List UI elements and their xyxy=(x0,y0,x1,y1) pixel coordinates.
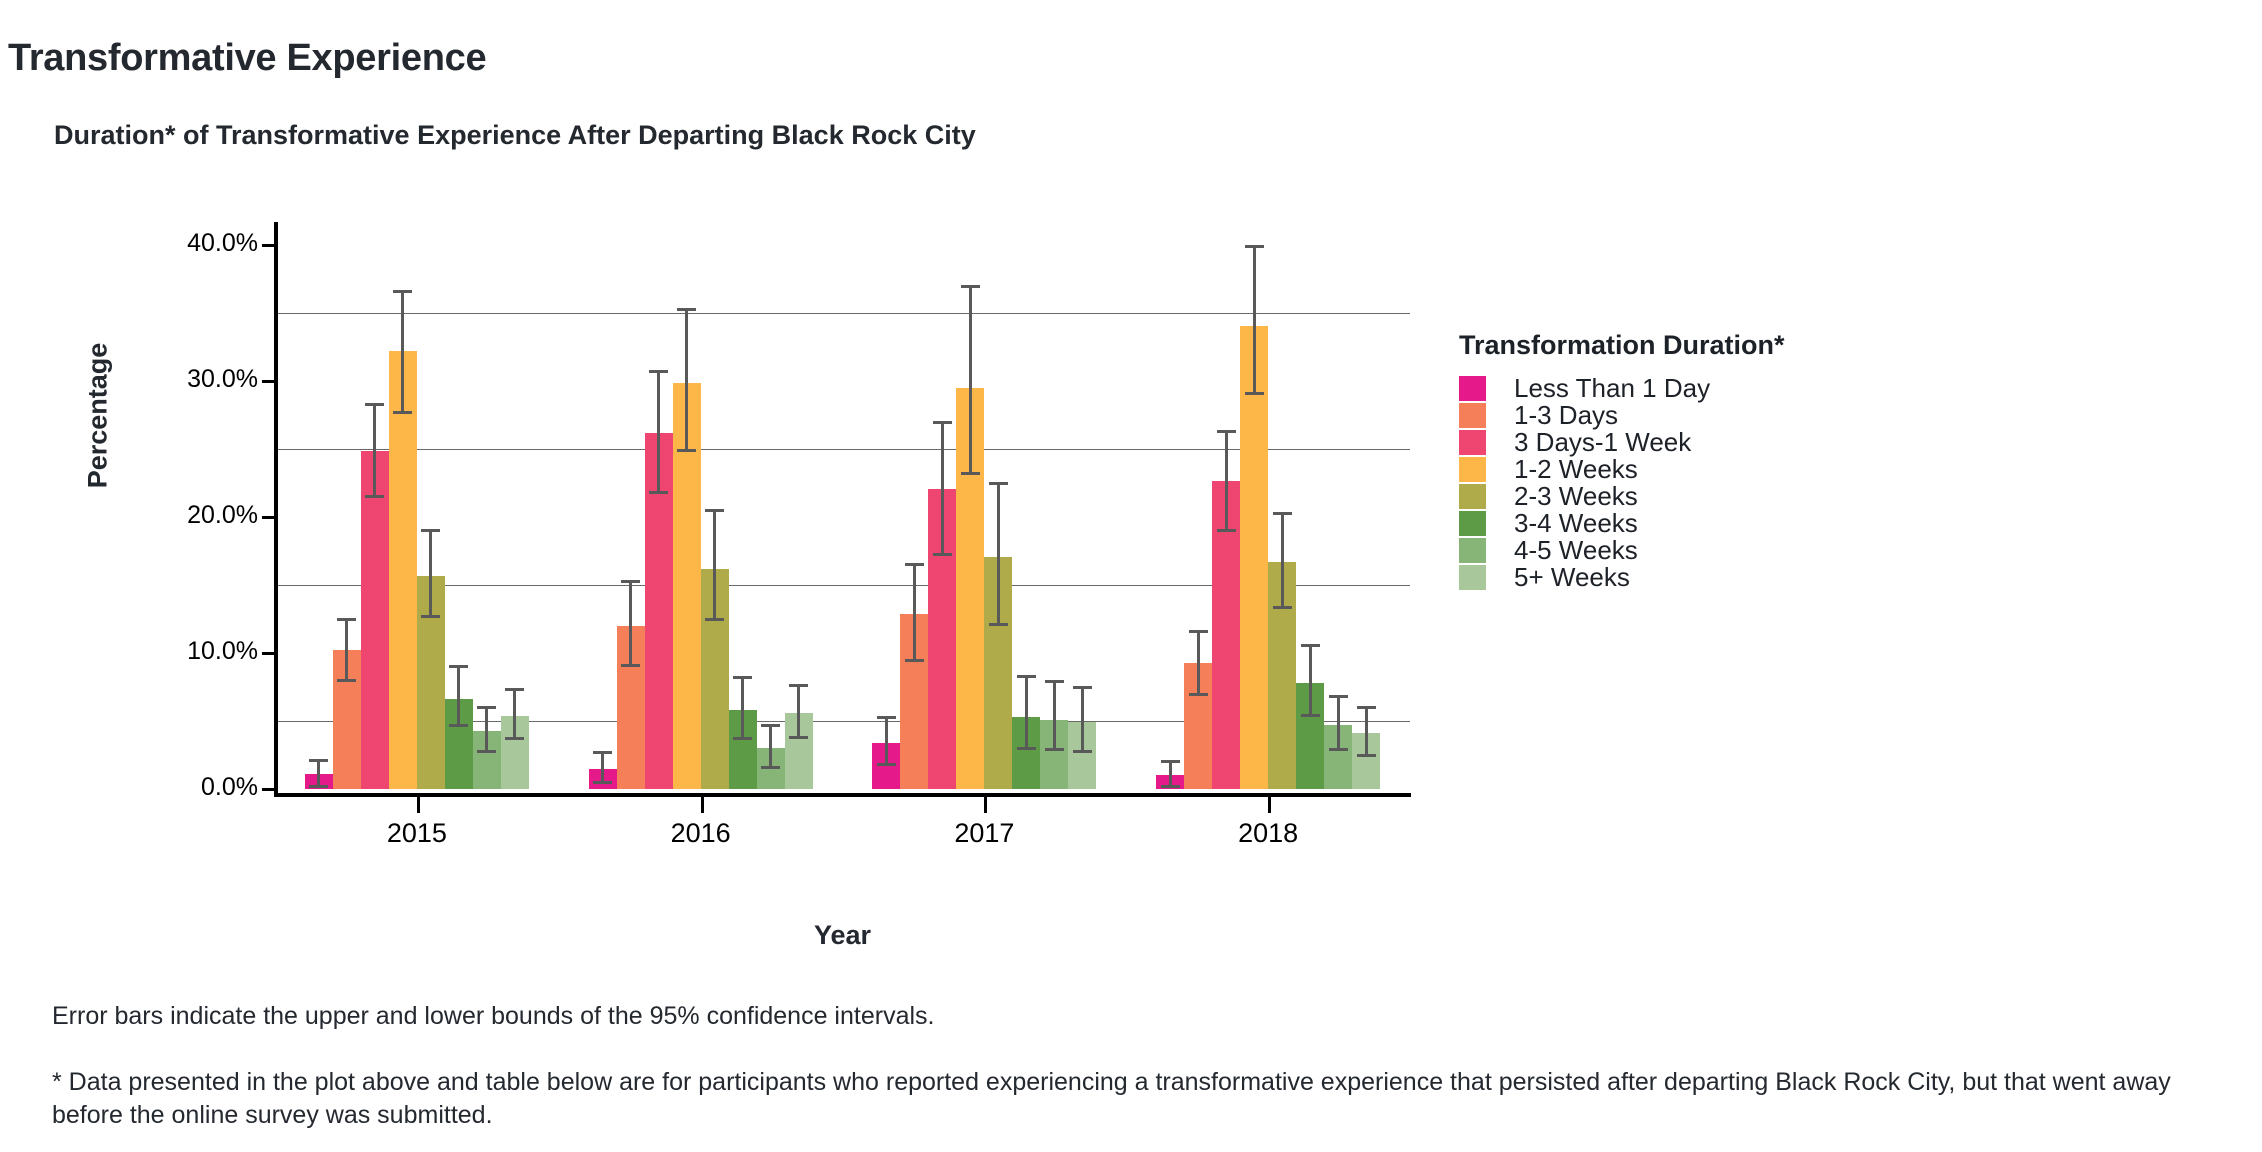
error-bar-cap-lower xyxy=(621,664,640,667)
gridline xyxy=(275,313,1410,314)
error-bar-line xyxy=(769,724,772,766)
legend-items: Less Than 1 Day1-3 Days3 Days-1 Week1-2 … xyxy=(1459,375,2019,591)
legend-swatch-icon xyxy=(1459,484,1486,509)
y-axis-tick-mark xyxy=(262,244,275,247)
legend-swatch-icon xyxy=(1459,403,1486,428)
error-bar-line xyxy=(601,751,604,781)
legend-swatch-icon xyxy=(1459,457,1486,482)
error-bar-line xyxy=(885,716,888,764)
legend-item[interactable]: 2-3 Weeks xyxy=(1459,483,2019,510)
error-bar-cap-upper xyxy=(309,759,328,762)
error-bar-line xyxy=(1169,760,1172,784)
error-bar-cap-lower xyxy=(705,618,724,621)
error-bar-line xyxy=(629,580,632,664)
error-bar-cap-upper xyxy=(337,618,356,621)
bar xyxy=(389,351,417,789)
y-axis-line xyxy=(274,222,278,795)
error-bar-line xyxy=(429,529,432,615)
legend-swatch-icon xyxy=(1459,430,1486,455)
legend-item[interactable]: Less Than 1 Day xyxy=(1459,375,2019,402)
error-bar-cap-upper xyxy=(1189,630,1208,633)
legend-item[interactable]: 5+ Weeks xyxy=(1459,564,2019,591)
y-axis-tick-labels: 0.0%10.0%20.0%30.0%40.0% xyxy=(108,0,258,1152)
legend-item[interactable]: 3-4 Weeks xyxy=(1459,510,2019,537)
y-axis-tick-label: 0.0% xyxy=(118,773,258,802)
y-axis-tick-label: 20.0% xyxy=(118,501,258,530)
bar xyxy=(361,451,389,789)
x-axis-tick-label-2018: 2018 xyxy=(1168,818,1368,849)
legend-label: 5+ Weeks xyxy=(1514,562,1630,593)
error-bar-cap-upper xyxy=(1273,512,1292,515)
error-bar-line xyxy=(685,308,688,449)
legend: Transformation Duration* Less Than 1 Day… xyxy=(1459,330,2019,591)
error-bar-cap-upper xyxy=(761,724,780,727)
x-axis-tick-label-2016: 2016 xyxy=(601,818,801,849)
error-bar-cap-lower xyxy=(905,659,924,662)
error-bar-line xyxy=(1197,630,1200,693)
error-bar-cap-upper xyxy=(1017,675,1036,678)
error-bar-cap-upper xyxy=(621,580,640,583)
error-bar-cap-lower xyxy=(649,491,668,494)
error-bar-cap-upper xyxy=(1357,706,1376,709)
error-bar-line xyxy=(373,403,376,495)
error-bar-cap-upper xyxy=(705,509,724,512)
error-bar-cap-lower xyxy=(1273,606,1292,609)
error-bar-cap-lower xyxy=(989,623,1008,626)
footnotes: Error bars indicate the upper and lower … xyxy=(52,1000,2242,1132)
error-bar-cap-lower xyxy=(789,736,808,739)
error-bar-cap-lower xyxy=(1161,785,1180,788)
error-bar-cap-upper xyxy=(1161,760,1180,763)
error-bar-cap-lower xyxy=(1357,754,1376,757)
error-bar-line xyxy=(345,618,348,679)
error-bar-cap-upper xyxy=(1045,680,1064,683)
error-bar-cap-upper xyxy=(393,290,412,293)
legend-item[interactable]: 1-2 Weeks xyxy=(1459,456,2019,483)
error-bar-line xyxy=(1053,680,1056,748)
error-bar-cap-upper xyxy=(1073,686,1092,689)
chart-figure: Duration* of Transformative Experience A… xyxy=(0,0,2262,1152)
x-axis-title: Year xyxy=(275,920,1410,951)
error-bar-cap-upper xyxy=(1329,695,1348,698)
y-axis-tick-label: 10.0% xyxy=(118,637,258,666)
error-bar-line xyxy=(1365,706,1368,754)
error-bar-line xyxy=(1225,430,1228,529)
error-bar-cap-lower xyxy=(1189,693,1208,696)
error-bar-cap-upper xyxy=(733,676,752,679)
error-bar-cap-lower xyxy=(365,495,384,498)
error-bar-line xyxy=(457,665,460,723)
error-bar-cap-lower xyxy=(933,553,952,556)
error-bar-line xyxy=(797,684,800,736)
error-bar-line xyxy=(713,509,716,618)
y-axis-tick-mark xyxy=(262,516,275,519)
legend-swatch-icon xyxy=(1459,565,1486,590)
error-bar-cap-lower xyxy=(877,763,896,766)
error-bar-cap-upper xyxy=(365,403,384,406)
error-bar-line xyxy=(657,370,660,491)
error-bar-line xyxy=(1309,644,1312,715)
error-bar-line xyxy=(485,706,488,749)
error-bar-cap-upper xyxy=(421,529,440,532)
error-bar-cap-lower xyxy=(449,724,468,727)
error-bar-line xyxy=(1281,512,1284,606)
error-bar-cap-lower xyxy=(309,785,328,788)
error-bar-cap-lower xyxy=(421,615,440,618)
error-bar-cap-lower xyxy=(1245,392,1264,395)
error-bar-cap-lower xyxy=(477,750,496,753)
legend-swatch-icon xyxy=(1459,538,1486,563)
x-axis-line xyxy=(274,793,1411,797)
y-axis-tick-mark xyxy=(262,788,275,791)
footnote-data-definition: * Data presented in the plot above and t… xyxy=(52,1066,2242,1132)
error-bar-line xyxy=(941,421,944,553)
error-bar-cap-lower xyxy=(677,449,696,452)
error-bar-line xyxy=(513,688,516,737)
error-bar-line xyxy=(741,676,744,737)
error-bar-cap-lower xyxy=(337,679,356,682)
error-bar-line xyxy=(913,563,916,658)
error-bar-line xyxy=(997,482,1000,623)
error-bar-cap-lower xyxy=(1329,748,1348,751)
error-bar-cap-upper xyxy=(1245,245,1264,248)
error-bar-cap-lower xyxy=(961,472,980,475)
error-bar-cap-lower xyxy=(505,737,524,740)
error-bar-cap-upper xyxy=(933,421,952,424)
footnote-error-bars: Error bars indicate the upper and lower … xyxy=(52,1000,2242,1033)
error-bar-line xyxy=(401,290,404,411)
legend-swatch-icon xyxy=(1459,511,1486,536)
x-axis-tick-mark xyxy=(417,797,420,813)
legend-swatch-icon xyxy=(1459,376,1486,401)
plot-area xyxy=(275,225,1410,789)
y-axis-tick-label: 30.0% xyxy=(118,365,258,394)
error-bar-cap-lower xyxy=(1045,748,1064,751)
y-axis-tick-mark xyxy=(262,380,275,383)
y-axis-tick-label: 40.0% xyxy=(118,229,258,258)
error-bar-cap-upper xyxy=(449,665,468,668)
error-bar-cap-upper xyxy=(989,482,1008,485)
error-bar-cap-upper xyxy=(677,308,696,311)
error-bar-cap-upper xyxy=(649,370,668,373)
x-axis-tick-label-2017: 2017 xyxy=(884,818,1084,849)
legend-item[interactable]: 4-5 Weeks xyxy=(1459,537,2019,564)
error-bar-cap-upper xyxy=(789,684,808,687)
error-bar-line xyxy=(1253,245,1256,392)
error-bar-cap-upper xyxy=(905,563,924,566)
error-bar-line xyxy=(1025,675,1028,747)
error-bar-line xyxy=(969,285,972,473)
error-bar-cap-upper xyxy=(1301,644,1320,647)
error-bar-cap-lower xyxy=(1301,714,1320,717)
error-bar-cap-lower xyxy=(1073,750,1092,753)
x-axis-tick-mark xyxy=(1268,797,1271,813)
error-bar-cap-upper xyxy=(505,688,524,691)
x-axis-tick-label-2015: 2015 xyxy=(317,818,517,849)
legend-item[interactable]: 3 Days-1 Week xyxy=(1459,429,2019,456)
error-bar-cap-lower xyxy=(761,766,780,769)
error-bar-cap-upper xyxy=(961,285,980,288)
error-bar-cap-upper xyxy=(593,751,612,754)
error-bar-cap-lower xyxy=(1017,747,1036,750)
error-bar-cap-lower xyxy=(1217,529,1236,532)
error-bar-cap-upper xyxy=(877,716,896,719)
error-bar-line xyxy=(1337,695,1340,748)
error-bar-cap-upper xyxy=(1217,430,1236,433)
legend-item[interactable]: 1-3 Days xyxy=(1459,402,2019,429)
x-axis-tick-mark xyxy=(701,797,704,813)
error-bar-cap-lower xyxy=(593,781,612,784)
error-bar-line xyxy=(317,759,320,785)
error-bar-cap-lower xyxy=(393,411,412,414)
legend-title: Transformation Duration* xyxy=(1459,330,2019,361)
error-bar-line xyxy=(1081,686,1084,750)
error-bar-cap-upper xyxy=(477,706,496,709)
error-bar-cap-lower xyxy=(733,737,752,740)
x-axis-tick-mark xyxy=(984,797,987,813)
y-axis-tick-mark xyxy=(262,652,275,655)
